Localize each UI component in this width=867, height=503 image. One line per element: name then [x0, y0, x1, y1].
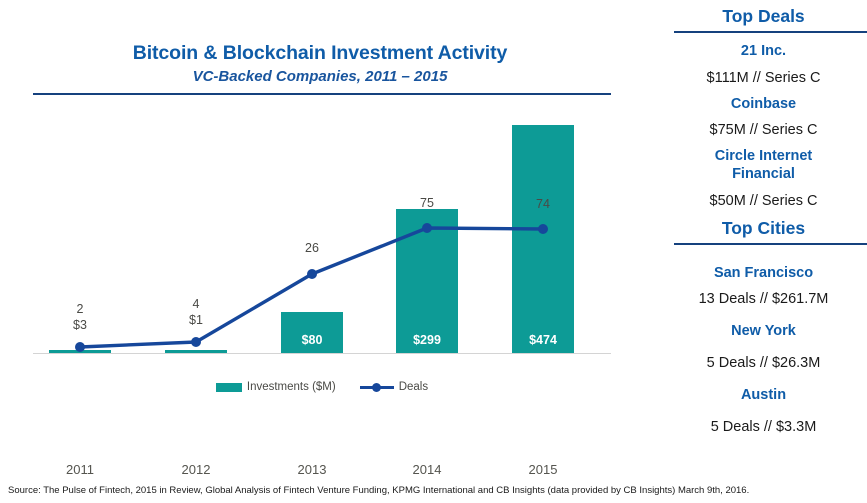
deals-line-series	[33, 104, 611, 354]
top-cities-divider	[674, 243, 867, 245]
top-cities-entry: New York 5 Deals // $26.3M	[660, 323, 867, 371]
deals-marker-2013	[307, 269, 317, 279]
deal-company-name: Coinbase	[660, 96, 867, 114]
city-detail: 5 Deals // $3.3M	[660, 419, 867, 435]
chart-panel: Bitcoin & Blockchain Investment Activity…	[0, 0, 655, 470]
top-cities-section: Top Cities San Francisco 13 Deals // $26…	[660, 218, 867, 435]
chart-subtitle: VC-Backed Companies, 2011 – 2015	[0, 68, 640, 85]
deals-value-label-2013: 26	[290, 241, 334, 255]
top-deals-heading: Top Deals	[660, 6, 867, 27]
deals-marker-2014	[422, 223, 432, 233]
deal-detail: $75M // Series C	[660, 122, 867, 138]
deals-marker-2012	[191, 337, 201, 347]
top-deals-entry: Coinbase $75M // Series C	[660, 96, 867, 139]
bar-swatch-icon	[216, 383, 242, 392]
legend-item-deals: Deals	[360, 381, 428, 393]
top-deals-divider	[674, 31, 867, 33]
deal-company-name: 21 Inc.	[660, 43, 867, 61]
top-deals-entry: Circle Internet Financial $50M // Series…	[660, 148, 867, 208]
top-cities-heading: Top Cities	[660, 218, 867, 239]
legend-label-investments: Investments ($M)	[247, 381, 336, 393]
legend-item-investments: Investments ($M)	[216, 381, 336, 393]
category-label-2013: 2013	[281, 462, 343, 477]
city-detail: 13 Deals // $261.7M	[660, 291, 867, 307]
title-divider	[33, 93, 611, 95]
bar-value-label-outside-2012: $1	[174, 313, 218, 327]
city-detail: 5 Deals // $26.3M	[660, 355, 867, 371]
category-label-2015: 2015	[512, 462, 574, 477]
city-name: New York	[660, 323, 867, 341]
deals-marker-2015	[538, 224, 548, 234]
category-label-2011: 2011	[49, 462, 111, 477]
deals-value-label-2015: 74	[521, 197, 565, 211]
deals-value-label-2011: 2	[58, 302, 102, 316]
city-name: San Francisco	[660, 265, 867, 283]
top-cities-entry: San Francisco 13 Deals // $261.7M	[660, 265, 867, 308]
deal-detail: $50M // Series C	[660, 193, 867, 209]
chart-legend: Investments ($M) Deals	[33, 378, 611, 396]
chart-title: Bitcoin & Blockchain Investment Activity	[0, 42, 640, 65]
source-note: Source: The Pulse of Fintech, 2015 in Re…	[8, 485, 863, 496]
deals-value-label-2014: 75	[405, 196, 449, 210]
deal-detail: $111M // Series C	[660, 70, 867, 86]
legend-label-deals: Deals	[399, 381, 428, 393]
line-marker-icon	[360, 382, 394, 392]
top-deals-section: Top Deals 21 Inc. $111M // Series C Coin…	[660, 6, 867, 209]
deals-value-label-2012: 4	[174, 297, 218, 311]
deals-marker-2011	[75, 342, 85, 352]
top-cities-entry: Austin 5 Deals // $3.3M	[660, 387, 867, 435]
side-panel: Top Deals 21 Inc. $111M // Series C Coin…	[660, 0, 867, 470]
bar-value-label-outside-2011: $3	[58, 318, 102, 332]
city-name: Austin	[660, 387, 867, 405]
category-label-2014: 2014	[396, 462, 458, 477]
deal-company-name: Circle Internet Financial	[660, 148, 867, 183]
plot-area: $80 $299 $474 2 4 26 75 74 $3 $1 2011 20…	[33, 104, 611, 354]
category-label-2012: 2012	[165, 462, 227, 477]
top-deals-entry: 21 Inc. $111M // Series C	[660, 43, 867, 86]
